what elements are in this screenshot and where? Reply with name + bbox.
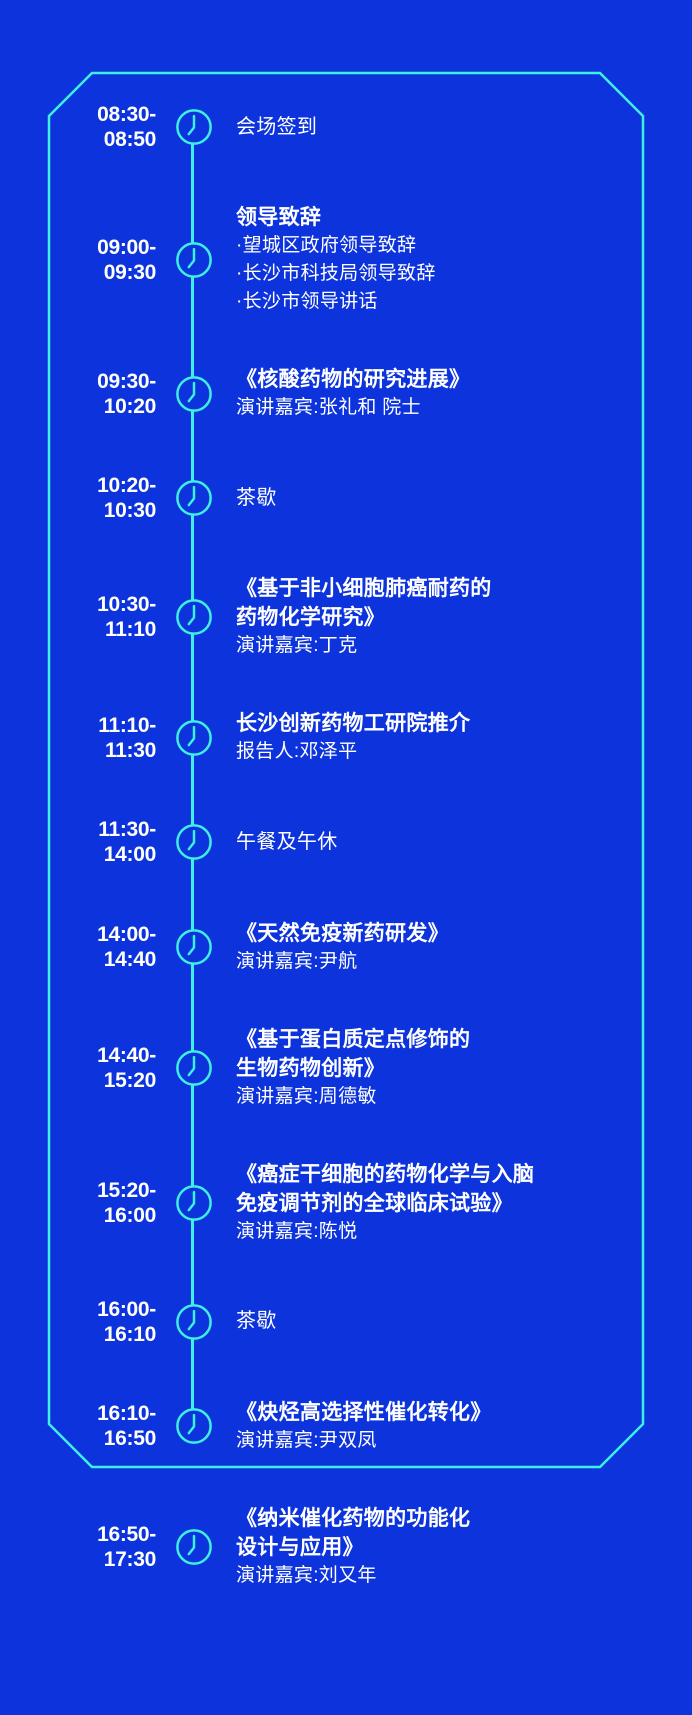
time-end: 11:10: [48, 617, 156, 642]
clock-icon: [175, 1407, 213, 1445]
schedule-rows: 08:30-08:50会场签到09:00-09:30领导致辞·望城区政府领导致辞…: [48, 100, 644, 1590]
session-line: 《天然免疫新药研发》: [236, 919, 644, 948]
schedule-row: 16:10-16:50《炔烃高选择性催化转化》演讲嘉宾:尹双凤: [48, 1398, 644, 1455]
session-line: 免疫调节剂的全球临床试验》: [236, 1189, 644, 1218]
timeline-marker: [166, 823, 222, 861]
session-content: 会场签到: [222, 113, 644, 142]
session-content: 《癌症干细胞的药物化学与入脑免疫调节剂的全球临床试验》演讲嘉宾:陈悦: [222, 1160, 644, 1246]
session-content: 《基于非小细胞肺癌耐药的药物化学研究》演讲嘉宾:丁克: [222, 574, 644, 660]
time-start: 16:50-: [48, 1522, 156, 1547]
time-range: 11:30-14:00: [48, 817, 166, 867]
time-range: 08:30-08:50: [48, 102, 166, 152]
session-line: 生物药物创新》: [236, 1054, 644, 1083]
schedule-row: 08:30-08:50会场签到: [48, 100, 644, 154]
clock-icon: [175, 479, 213, 517]
time-range: 16:50-17:30: [48, 1522, 166, 1572]
time-range: 14:40-15:20: [48, 1043, 166, 1093]
time-range: 11:10-11:30: [48, 713, 166, 763]
schedule-row: 11:30-14:00午餐及午休: [48, 815, 644, 869]
session-line: 《炔烃高选择性催化转化》: [236, 1398, 644, 1427]
session-line: 《纳米催化药物的功能化: [236, 1504, 644, 1533]
time-end: 09:30: [48, 260, 156, 285]
timeline-marker: [166, 375, 222, 413]
clock-icon: [175, 823, 213, 861]
timeline-marker: [166, 928, 222, 966]
schedule-row: 10:20-10:30茶歇: [48, 471, 644, 525]
session-content: 茶歇: [222, 484, 644, 513]
timeline-marker: [166, 598, 222, 636]
clock-icon: [175, 598, 213, 636]
session-line: 演讲嘉宾:张礼和 院士: [236, 394, 644, 422]
session-line: 演讲嘉宾:尹双凤: [236, 1427, 644, 1455]
time-range: 09:00-09:30: [48, 235, 166, 285]
session-line: 报告人:邓泽平: [236, 738, 644, 766]
time-end: 14:00: [48, 842, 156, 867]
time-start: 11:10-: [48, 713, 156, 738]
timeline-marker: [166, 479, 222, 517]
timeline-marker: [166, 1184, 222, 1222]
clock-icon: [175, 1303, 213, 1341]
time-end: 14:40: [48, 947, 156, 972]
session-content: 茶歇: [222, 1307, 644, 1336]
clock-icon: [175, 928, 213, 966]
session-content: 《纳米催化药物的功能化设计与应用》演讲嘉宾:刘又年: [222, 1504, 644, 1590]
session-line: 药物化学研究》: [236, 603, 644, 632]
session-content: 午餐及午休: [222, 828, 644, 857]
time-start: 10:30-: [48, 592, 156, 617]
event-schedule-poster: { "theme": { "background": "#0d34dc", "a…: [0, 0, 692, 1715]
time-range: 14:00-14:40: [48, 922, 166, 972]
session-line: 演讲嘉宾:丁克: [236, 632, 644, 660]
timeline-marker: [166, 1528, 222, 1566]
clock-icon: [175, 241, 213, 279]
time-start: 10:20-: [48, 473, 156, 498]
session-line: 演讲嘉宾:周德敏: [236, 1083, 644, 1111]
session-line: 《核酸药物的研究进展》: [236, 365, 644, 394]
session-line: 茶歇: [236, 1307, 644, 1336]
schedule-row: 14:40-15:20《基于蛋白质定点修饰的生物药物创新》演讲嘉宾:周德敏: [48, 1025, 644, 1111]
session-line: 午餐及午休: [236, 828, 644, 857]
time-range: 10:20-10:30: [48, 473, 166, 523]
clock-icon: [175, 1184, 213, 1222]
schedule-row: 09:00-09:30领导致辞·望城区政府领导致辞·长沙市科技局领导致辞·长沙市…: [48, 203, 644, 316]
time-start: 14:40-: [48, 1043, 156, 1068]
clock-icon: [175, 1049, 213, 1087]
time-start: 16:00-: [48, 1297, 156, 1322]
time-end: 11:30: [48, 738, 156, 763]
session-line: ·望城区政府领导致辞: [236, 232, 644, 260]
schedule-container: 08:30-08:50会场签到09:00-09:30领导致辞·望城区政府领导致辞…: [48, 72, 644, 1468]
clock-icon: [175, 1528, 213, 1566]
session-line: 会场签到: [236, 113, 644, 142]
schedule-row: 16:50-17:30《纳米催化药物的功能化设计与应用》演讲嘉宾:刘又年: [48, 1504, 644, 1590]
time-start: 11:30-: [48, 817, 156, 842]
time-start: 08:30-: [48, 102, 156, 127]
clock-icon: [175, 375, 213, 413]
time-start: 14:00-: [48, 922, 156, 947]
schedule-row: 16:00-16:10茶歇: [48, 1295, 644, 1349]
session-content: 长沙创新药物工研院推介报告人:邓泽平: [222, 709, 644, 766]
timeline-marker: [166, 1407, 222, 1445]
schedule-row: 11:10-11:30长沙创新药物工研院推介报告人:邓泽平: [48, 709, 644, 766]
schedule-row: 10:30-11:10《基于非小细胞肺癌耐药的药物化学研究》演讲嘉宾:丁克: [48, 574, 644, 660]
time-start: 15:20-: [48, 1178, 156, 1203]
schedule-row: 09:30-10:20《核酸药物的研究进展》演讲嘉宾:张礼和 院士: [48, 365, 644, 422]
time-range: 10:30-11:10: [48, 592, 166, 642]
timeline-marker: [166, 1303, 222, 1341]
timeline-marker: [166, 1049, 222, 1087]
session-line: ·长沙市科技局领导致辞: [236, 260, 644, 288]
session-line: ·长沙市领导讲话: [236, 288, 644, 316]
clock-icon: [175, 719, 213, 757]
session-content: 领导致辞·望城区政府领导致辞·长沙市科技局领导致辞·长沙市领导讲话: [222, 203, 644, 316]
time-end: 10:30: [48, 498, 156, 523]
session-content: 《核酸药物的研究进展》演讲嘉宾:张礼和 院士: [222, 365, 644, 422]
schedule-row: 14:00-14:40《天然免疫新药研发》演讲嘉宾:尹航: [48, 919, 644, 976]
timeline-marker: [166, 108, 222, 146]
time-end: 08:50: [48, 127, 156, 152]
session-line: 领导致辞: [236, 203, 644, 232]
clock-icon: [175, 108, 213, 146]
session-line: 《基于蛋白质定点修饰的: [236, 1025, 644, 1054]
session-line: 演讲嘉宾:尹航: [236, 948, 644, 976]
schedule-row: 15:20-16:00《癌症干细胞的药物化学与入脑免疫调节剂的全球临床试验》演讲…: [48, 1160, 644, 1246]
session-line: 演讲嘉宾:陈悦: [236, 1218, 644, 1246]
time-start: 16:10-: [48, 1401, 156, 1426]
time-end: 17:30: [48, 1547, 156, 1572]
time-end: 16:10: [48, 1322, 156, 1347]
session-line: 演讲嘉宾:刘又年: [236, 1562, 644, 1590]
timeline-marker: [166, 241, 222, 279]
time-start: 09:30-: [48, 369, 156, 394]
session-content: 《天然免疫新药研发》演讲嘉宾:尹航: [222, 919, 644, 976]
session-line: 《基于非小细胞肺癌耐药的: [236, 574, 644, 603]
session-line: 设计与应用》: [236, 1533, 644, 1562]
session-content: 《炔烃高选择性催化转化》演讲嘉宾:尹双凤: [222, 1398, 644, 1455]
session-line: 《癌症干细胞的药物化学与入脑: [236, 1160, 644, 1189]
time-range: 15:20-16:00: [48, 1178, 166, 1228]
time-start: 09:00-: [48, 235, 156, 260]
time-range: 09:30-10:20: [48, 369, 166, 419]
time-end: 10:20: [48, 394, 156, 419]
time-range: 16:00-16:10: [48, 1297, 166, 1347]
session-line: 长沙创新药物工研院推介: [236, 709, 644, 738]
timeline-marker: [166, 719, 222, 757]
time-end: 16:00: [48, 1203, 156, 1228]
session-content: 《基于蛋白质定点修饰的生物药物创新》演讲嘉宾:周德敏: [222, 1025, 644, 1111]
time-range: 16:10-16:50: [48, 1401, 166, 1451]
time-end: 15:20: [48, 1068, 156, 1093]
time-end: 16:50: [48, 1426, 156, 1451]
session-line: 茶歇: [236, 484, 644, 513]
